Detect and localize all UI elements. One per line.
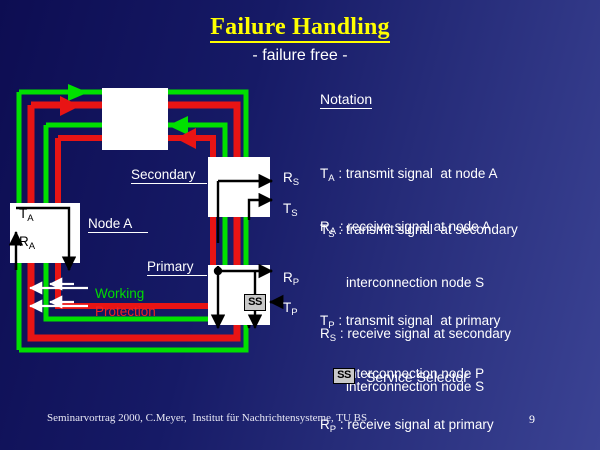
notation-line-ta: TA : transmit signal at node A bbox=[320, 165, 497, 184]
notation-group-primary: TP : transmit signal at primary intercon… bbox=[320, 278, 500, 450]
notation-line-tp: TP : transmit signal at primary bbox=[320, 312, 500, 331]
legend-service-selector-label: Service Selector bbox=[366, 369, 468, 385]
port-label-ta: TA bbox=[19, 206, 34, 221]
service-selector-box[interactable]: SS bbox=[244, 294, 266, 311]
port-label-ts: TS bbox=[283, 201, 298, 216]
port-label-ra: RA bbox=[19, 234, 35, 249]
notation-line-ts: TS : transmit signal at secondary bbox=[320, 221, 518, 240]
key-label-protection: Protection bbox=[95, 304, 156, 319]
node-secondary-leader-line bbox=[131, 183, 207, 184]
slide-page-number: 9 bbox=[529, 412, 535, 427]
port-label-rp: RP bbox=[283, 270, 299, 285]
node-primary-leader-line bbox=[147, 275, 207, 276]
key-label-working: Working bbox=[95, 286, 144, 301]
port-label-rs: RS bbox=[283, 170, 299, 185]
notation-heading: Notation bbox=[320, 91, 372, 107]
page-title-text: Failure Handling bbox=[210, 14, 389, 43]
page-title: Failure Handling bbox=[0, 14, 600, 41]
node-secondary-label: Secondary bbox=[131, 167, 196, 182]
outer-working-arrowhead bbox=[68, 84, 88, 101]
notation-heading-text: Notation bbox=[320, 91, 372, 109]
node-a-label: Node A bbox=[88, 216, 132, 231]
node-hub-box[interactable] bbox=[102, 88, 168, 150]
slide-footer: Seminarvortrag 2000, C.Meyer, Institut f… bbox=[47, 412, 367, 424]
page-subtitle: - failure free - bbox=[0, 47, 600, 65]
node-primary-label: Primary bbox=[147, 259, 194, 274]
node-secondary-box[interactable] bbox=[208, 157, 270, 217]
node-a-leader-line bbox=[88, 232, 148, 233]
slide-canvas: Failure Handling - failure free - bbox=[0, 0, 600, 450]
legend-service-selector-icon: SS bbox=[333, 368, 355, 384]
inner-working-arrowhead bbox=[168, 116, 188, 135]
port-label-tp: TP bbox=[283, 300, 298, 315]
inner-protection-ring-path bbox=[58, 138, 213, 306]
